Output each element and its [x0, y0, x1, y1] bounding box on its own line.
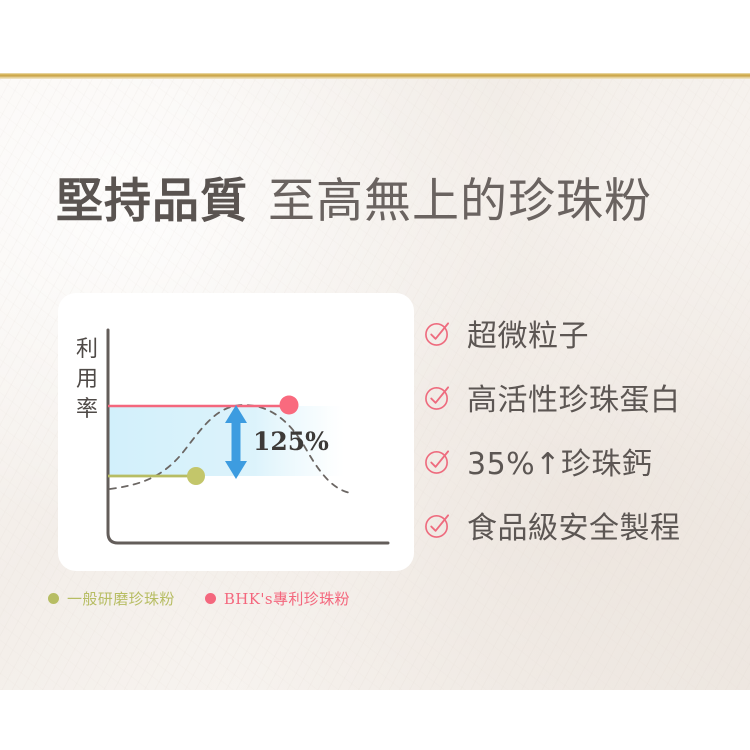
utilisation-chart-card: 利 用 率 125% [58, 293, 414, 571]
feature-label-2: 高活性珍珠蛋白 [467, 375, 681, 419]
feature-label-1: 超微粒子 [467, 311, 589, 355]
y-axis-label-char-3: 率 [76, 397, 98, 422]
legend-item-general: 一般研磨珍珠粉 [48, 588, 175, 609]
feature-item-1: 超微粒子 [424, 312, 681, 354]
feature-item-4: 食品級安全製程 [424, 504, 681, 546]
check-circle-icon [424, 448, 451, 475]
page-title-light: 至高無上的珍珠粉 [268, 174, 652, 229]
feature-label-3: 35%↑珍珠鈣 [467, 439, 652, 483]
bottom-white-strip [0, 690, 750, 750]
y-axis-label-char-1: 利 [76, 337, 98, 362]
legend-label-general: 一般研磨珍珠粉 [67, 588, 175, 609]
feature-item-3: 35%↑珍珠鈣 [424, 440, 681, 482]
chart-legend: 一般研磨珍珠粉 BHK's專利珍珠粉 [48, 588, 350, 609]
bhk-data-point [280, 396, 299, 415]
feature-list: 超微粒子 高活性珍珠蛋白 35%↑珍珠鈣 食品級安全製程 [424, 312, 681, 546]
legend-dot-icon-bhk [205, 593, 216, 604]
check-circle-icon [424, 320, 451, 347]
check-circle-icon [424, 384, 451, 411]
legend-dot-icon-general [48, 593, 59, 604]
page-title: 堅持品質至高無上的珍珠粉 [56, 178, 652, 225]
general-data-point [187, 467, 205, 485]
check-circle-icon [424, 512, 451, 539]
top-white-strip [0, 0, 750, 73]
legend-label-bhk: BHK's專利珍珠粉 [224, 588, 350, 609]
utilisation-chart: 利 用 率 125% [58, 293, 414, 571]
y-axis-label-char-2: 用 [76, 367, 98, 392]
promo-banner: 堅持品質至高無上的珍珠粉 [0, 0, 750, 750]
page-title-strong: 堅持品質 [56, 174, 248, 229]
legend-item-bhk: BHK's專利珍珠粉 [205, 588, 350, 609]
feature-item-2: 高活性珍珠蛋白 [424, 376, 681, 418]
gap-annotation-label: 125% [253, 427, 329, 456]
feature-label-4: 食品級安全製程 [467, 503, 681, 547]
